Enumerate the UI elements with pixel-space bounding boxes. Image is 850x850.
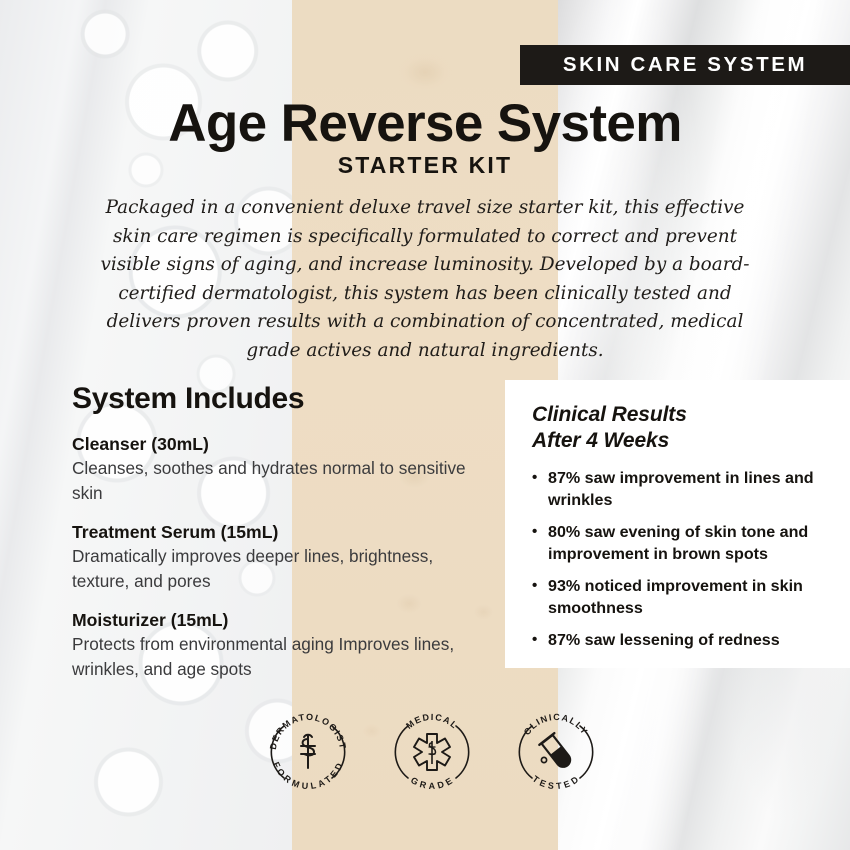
certification-badges: DERMATOLOGIST FORMULATED bbox=[262, 706, 602, 798]
skin-care-system-banner: SKIN CARE SYSTEM bbox=[520, 45, 850, 85]
clinical-results-heading-line1: Clinical Results bbox=[532, 402, 828, 428]
foreground-content: SKIN CARE SYSTEM Age Reverse System STAR… bbox=[0, 0, 850, 850]
skincare-infographic: SKIN CARE SYSTEM Age Reverse System STAR… bbox=[0, 0, 850, 850]
badge-medical-grade: MEDICAL GRADE bbox=[386, 706, 478, 798]
banner-label: SKIN CARE SYSTEM bbox=[563, 53, 807, 77]
product-name: Cleanser (30mL) bbox=[72, 432, 482, 456]
list-item: 87% saw lessening of redness bbox=[532, 630, 828, 652]
test-tube-icon bbox=[539, 733, 575, 771]
badge-bottom-label: TESTED bbox=[531, 774, 582, 792]
product-item-treatment-serum: Treatment Serum (15mL) Dramatically impr… bbox=[72, 520, 482, 593]
product-name: Moisturizer (15mL) bbox=[72, 608, 482, 632]
product-item-cleanser: Cleanser (30mL) Cleanses, soothes and hy… bbox=[72, 432, 482, 505]
product-item-moisturizer: Moisturizer (15mL) Protects from environ… bbox=[72, 608, 482, 681]
clinical-results-heading-line2: After 4 Weeks bbox=[532, 428, 828, 454]
list-item: 80% saw evening of skin tone and improve… bbox=[532, 522, 828, 565]
page-subtitle: STARTER KIT bbox=[0, 152, 850, 179]
product-description: Packaged in a convenient deluxe travel s… bbox=[88, 194, 762, 366]
system-includes-section: System Includes Cleanser (30mL) Cleanses… bbox=[72, 382, 482, 696]
clinical-results-heading: Clinical Results After 4 Weeks bbox=[532, 402, 828, 454]
clinical-results-card: Clinical Results After 4 Weeks 87% saw i… bbox=[505, 380, 850, 668]
product-description-text: Protects from environmental aging Improv… bbox=[72, 632, 482, 681]
badge-bottom-label: GRADE bbox=[409, 775, 455, 791]
badge-dermatologist-formulated: DERMATOLOGIST FORMULATED bbox=[262, 706, 354, 798]
badge-top-label: CLINICALLY bbox=[522, 712, 590, 737]
star-of-life-icon bbox=[414, 734, 450, 770]
clinical-results-list: 87% saw improvement in lines and wrinkle… bbox=[532, 468, 828, 652]
page-title: Age Reverse System bbox=[0, 97, 850, 150]
system-includes-heading: System Includes bbox=[72, 382, 482, 416]
product-description-text: Dramatically improves deeper lines, brig… bbox=[72, 544, 482, 593]
badge-top-label: MEDICAL bbox=[404, 712, 460, 731]
product-description-text: Cleanses, soothes and hydrates normal to… bbox=[72, 456, 482, 505]
list-item: 93% noticed improvement in skin smoothne… bbox=[532, 576, 828, 619]
list-item: 87% saw improvement in lines and wrinkle… bbox=[532, 468, 828, 511]
caduceus-icon bbox=[301, 735, 315, 768]
badge-clinically-tested: CLINICALLY TESTED bbox=[510, 706, 602, 798]
product-name: Treatment Serum (15mL) bbox=[72, 520, 482, 544]
